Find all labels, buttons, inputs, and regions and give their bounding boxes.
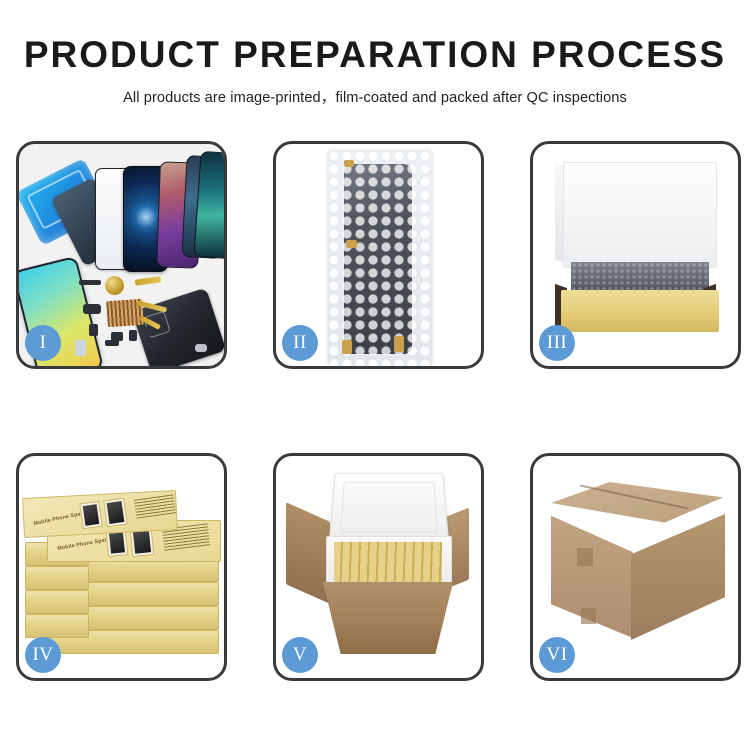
tape-patch-icon bbox=[577, 548, 593, 566]
camera-lens-part-icon bbox=[105, 276, 124, 295]
white-foam-lid-icon bbox=[563, 162, 717, 268]
screw-set-icon bbox=[195, 344, 207, 352]
small-part-icon bbox=[79, 280, 101, 285]
retail-box-slab bbox=[25, 566, 89, 590]
step-panel-1: I bbox=[16, 141, 227, 369]
product-preparation-process-page: PRODUCT PREPARATION PROCESS All products… bbox=[0, 0, 750, 750]
foam-lid-open-icon bbox=[329, 473, 450, 543]
step-badge-3: III bbox=[539, 325, 575, 361]
small-part-icon bbox=[83, 304, 101, 314]
flex-cable-icon bbox=[135, 276, 162, 286]
carton-flap-left bbox=[286, 502, 330, 604]
dark-foam-padding-icon bbox=[571, 262, 709, 292]
step-badge-1: I bbox=[25, 325, 61, 361]
tape-tab-icon bbox=[342, 340, 352, 354]
step-badge-4: IV bbox=[25, 637, 61, 673]
retail-box-slab bbox=[25, 590, 89, 614]
step-panel-4: Mobile Phone Spare Parts Mobile Phone Sp… bbox=[16, 453, 227, 681]
retail-box-slab bbox=[25, 614, 89, 638]
page-subtitle: All products are image-printed，film-coat… bbox=[0, 86, 750, 107]
kraft-box-front-icon bbox=[561, 290, 719, 332]
packed-retail-boxes-icon bbox=[334, 542, 442, 582]
step-panel-2: II bbox=[273, 141, 484, 369]
step-panel-3: III bbox=[530, 141, 741, 369]
step-badge-6: VI bbox=[539, 637, 575, 673]
sim-tray-icon bbox=[75, 340, 86, 356]
header: PRODUCT PREPARATION PROCESS All products… bbox=[0, 0, 750, 107]
tape-patch-icon bbox=[581, 608, 596, 624]
step-badge-2: II bbox=[282, 325, 318, 361]
tape-tab-icon bbox=[346, 240, 357, 248]
step-panel-6: VI bbox=[530, 453, 741, 681]
tape-tab-icon bbox=[394, 336, 404, 352]
step-badge-5: V bbox=[282, 637, 318, 673]
page-title: PRODUCT PREPARATION PROCESS bbox=[0, 36, 750, 73]
carton-right-face bbox=[631, 514, 725, 640]
bubble-wrap-package-icon bbox=[328, 150, 432, 366]
product-window bbox=[79, 501, 102, 530]
small-part-icon bbox=[129, 330, 137, 341]
product-window bbox=[103, 498, 128, 528]
bubble-texture-overlay bbox=[328, 150, 432, 366]
step-panel-5: V bbox=[273, 453, 484, 681]
small-part-icon bbox=[105, 340, 119, 346]
process-steps-grid: I II bbox=[16, 141, 734, 681]
small-part-icon bbox=[89, 324, 98, 336]
brown-carton-body-icon bbox=[314, 582, 462, 654]
small-part-icon bbox=[144, 326, 154, 336]
tape-tab-icon bbox=[344, 160, 354, 167]
